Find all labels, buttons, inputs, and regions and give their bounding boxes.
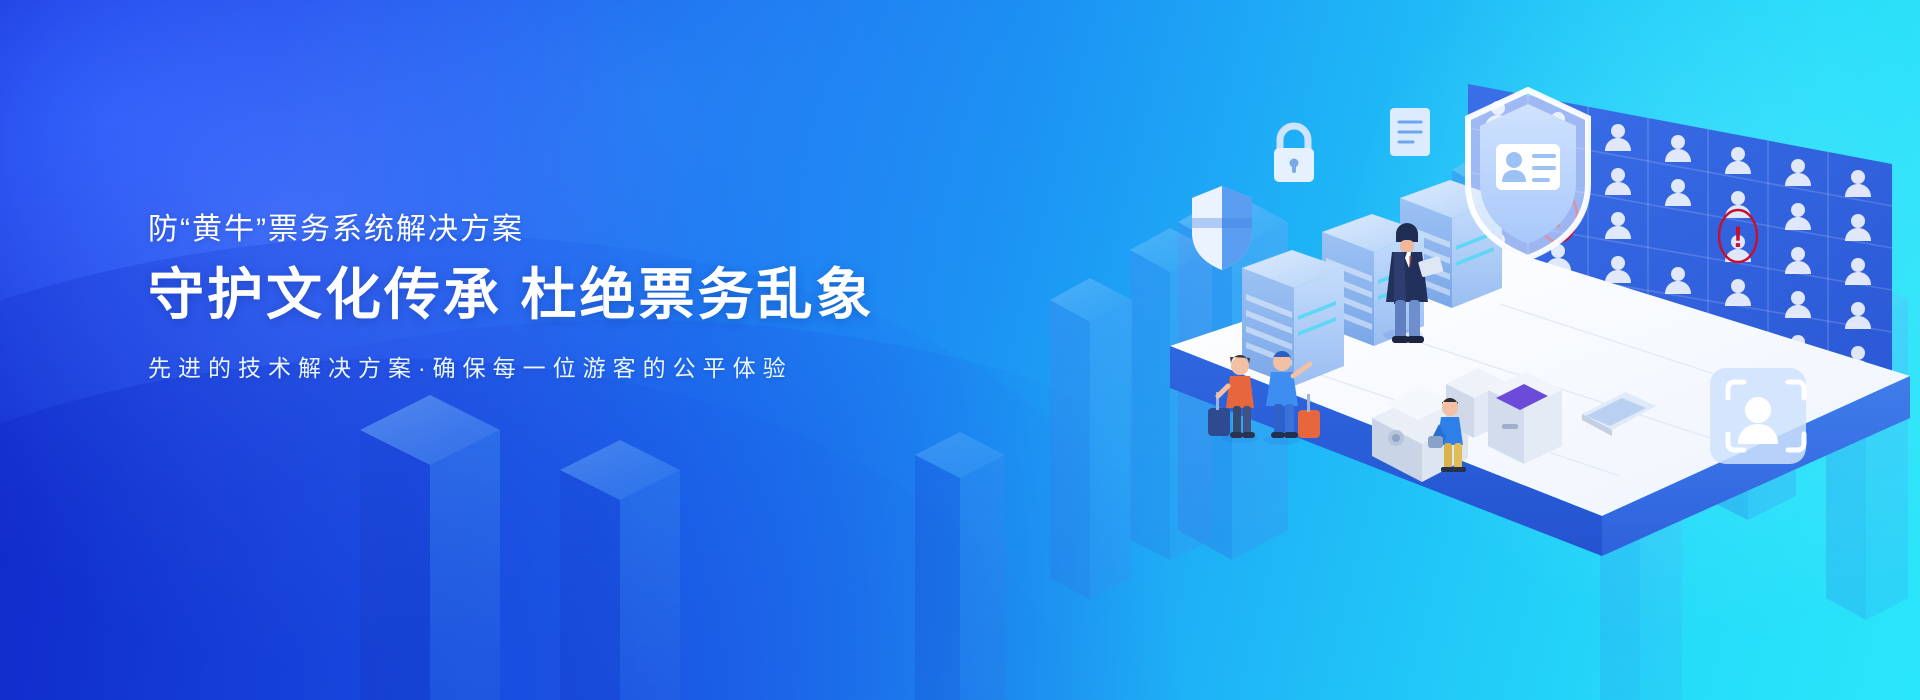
alert-marker-2-label: ! — [1733, 221, 1743, 254]
banner-headline: 守护文化传承 杜绝票务乱象 — [148, 264, 875, 327]
banner-subcopy: 先进的技术解决方案·确保每一位游客的公平体验 — [148, 349, 875, 383]
illustration-svg: ! ! — [1150, 46, 1910, 646]
tower-left-1 — [360, 395, 500, 700]
hero-illustration: ! ! — [1150, 46, 1910, 646]
document-icon — [1390, 108, 1430, 156]
tower-left-2 — [560, 440, 680, 700]
ticket-kiosk — [1488, 372, 1562, 464]
padlock-icon — [1274, 126, 1314, 182]
face-scan-badge — [1710, 368, 1806, 464]
id-card-shield-badge — [1468, 90, 1588, 258]
server-rack-1 — [1242, 250, 1344, 386]
tower-left-3 — [915, 432, 1005, 700]
banner-kicker: 防“黄牛”票务系统解决方案 — [148, 212, 875, 248]
tower-mid-3 — [1050, 278, 1132, 600]
banner-copy: 防“黄牛”票务系统解决方案 守护文化传承 杜绝票务乱象 先进的技术解决方案·确保… — [148, 212, 875, 383]
hero-banner: 防“黄牛”票务系统解决方案 守护文化传承 杜绝票务乱象 先进的技术解决方案·确保… — [0, 0, 1920, 700]
security-shield — [1192, 186, 1252, 270]
